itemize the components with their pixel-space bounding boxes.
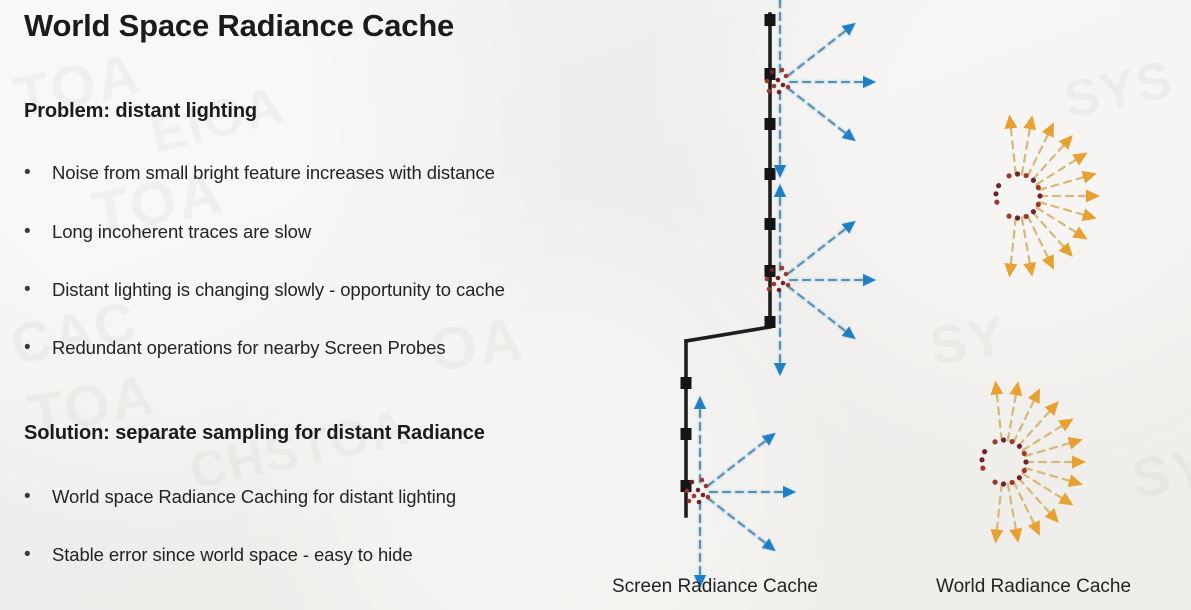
radiance-sample-dot	[1024, 214, 1029, 219]
radiance-sample-dot	[685, 489, 690, 494]
screen-probe-markers	[681, 14, 776, 492]
radiance-sample-dot	[781, 83, 786, 88]
ray-arrowhead	[1082, 209, 1097, 221]
bullet-glyph: •	[24, 221, 38, 243]
radiance-sample-dot	[1022, 451, 1027, 456]
list-item-label: Distant lighting is changing slowly - op…	[38, 279, 505, 301]
radiance-sample-dot	[1001, 437, 1006, 442]
ray-dashed-line	[1039, 202, 1083, 215]
ray-arrowhead	[1004, 263, 1017, 278]
radiance-sample-dot	[1001, 481, 1006, 486]
ray-arrowhead	[774, 184, 786, 197]
list-item-label: World space Radiance Caching for distant…	[38, 486, 456, 508]
radiance-sample-dot	[786, 283, 791, 288]
ray-arrowhead	[1009, 528, 1022, 543]
radiance-sample-dot	[701, 493, 706, 498]
ray-arrowhead	[1058, 419, 1073, 432]
radiance-sample-dot	[696, 488, 701, 493]
bullet-glyph: •	[24, 544, 38, 566]
radiance-sample-dot	[786, 85, 791, 90]
radiance-sample-dot	[776, 276, 781, 281]
radiance-sample-dot	[992, 439, 997, 444]
ray-arrowhead	[990, 380, 1003, 395]
radiance-sample-dot	[980, 466, 985, 471]
list-item: • World space Radiance Caching for dista…	[24, 486, 456, 508]
ray-glow	[708, 441, 766, 486]
radiance-sample-dot	[1036, 202, 1041, 207]
ray-dashed-line	[1033, 145, 1064, 179]
radiance-sample-dot	[777, 288, 782, 293]
ray-dashed-line	[1028, 135, 1048, 176]
radiance-sample-dot	[992, 480, 997, 485]
radiance-sample-dot	[994, 200, 999, 205]
radiance-sample-dot	[982, 449, 987, 454]
bullet-glyph: •	[24, 337, 38, 359]
ray-dashed-line	[997, 484, 1002, 530]
radiance-sample-dot	[697, 500, 702, 505]
radiance-sample-dot	[700, 478, 705, 483]
ray-arrowhead	[694, 396, 706, 409]
bullet-glyph: •	[24, 486, 38, 508]
ray-dashed-line	[1028, 216, 1048, 257]
radiance-sample-dot	[706, 495, 711, 500]
ray-glow	[708, 498, 766, 543]
ray-arrowhead	[1004, 114, 1017, 129]
section-heading-solution: Solution: separate sampling for distant …	[24, 422, 485, 445]
bullet-glyph: •	[24, 162, 38, 184]
ray-arrowhead	[990, 529, 1003, 544]
ray-dashed-line	[1033, 212, 1064, 246]
radiance-sample-dot	[765, 277, 770, 282]
radiance-sample-dot	[770, 268, 775, 273]
caption-world-radiance-cache: World Radiance Cache	[936, 576, 1131, 598]
radiance-sample-dot	[772, 282, 777, 287]
ray-dashed-line	[1014, 401, 1034, 442]
list-item-label: Noise from small bright feature increase…	[38, 162, 495, 184]
list-item-label: Stable error since world space - easy to…	[38, 544, 413, 566]
screen-probe-marker	[681, 377, 692, 389]
radiance-sample-dot	[1010, 439, 1015, 444]
bullet-glyph: •	[24, 279, 38, 301]
screen-probe-marker	[765, 68, 776, 80]
ray-dashed-line	[1019, 411, 1050, 445]
ray-dashed-line	[1039, 177, 1083, 190]
ray-arrowhead	[1072, 153, 1087, 166]
screen-probe-marker	[765, 218, 776, 230]
radiance-sample-dot	[1006, 214, 1011, 219]
ray-arrowhead	[774, 363, 786, 376]
radiance-sample-dot	[784, 74, 789, 79]
section-heading-problem: Problem: distant lighting	[24, 100, 257, 123]
ray-arrowhead	[863, 274, 876, 286]
list-item: • Redundant operations for nearby Screen…	[24, 337, 446, 359]
ray-dashed-line	[1011, 128, 1016, 174]
screen-probe-marker	[765, 14, 776, 26]
list-item: • Stable error since world space - easy …	[24, 544, 413, 566]
radiance-sample-dot	[1015, 171, 1020, 176]
radiance-sample-dot	[765, 79, 770, 84]
ray-dashed-line	[1022, 129, 1030, 174]
radiance-sample-dot	[767, 287, 772, 292]
ray-glow	[788, 286, 846, 331]
radiance-sample-dot	[690, 480, 695, 485]
radiance-sample-dot	[1024, 173, 1029, 178]
list-item-label: Long incoherent traces are slow	[38, 221, 311, 243]
ray-arrowhead	[1072, 227, 1087, 240]
slide-text-column: World Space Radiance Cache Problem: dist…	[0, 0, 700, 610]
ray-arrowhead	[1082, 171, 1097, 183]
ray-arrowhead	[1058, 493, 1073, 506]
radiance-sample-dot	[687, 499, 692, 504]
ray-dashed-line	[1011, 218, 1016, 264]
radiance-sample-dot	[780, 68, 785, 73]
radiance-sample-dot	[770, 70, 775, 75]
radiance-cache-diagram	[600, 0, 1191, 610]
screen-radiance-rays	[692, 0, 877, 590]
radiance-sample-dot	[993, 191, 998, 196]
ray-glow	[788, 88, 846, 133]
ray-dashed-line	[1025, 443, 1069, 456]
radiance-sample-dot	[1031, 209, 1036, 214]
world-radiance-rays	[990, 114, 1100, 543]
ray-arrowhead	[1068, 475, 1083, 487]
radiance-sample-dot	[996, 183, 1001, 188]
ray-arrowhead	[1068, 437, 1083, 449]
radiance-sample-dot	[776, 78, 781, 83]
radiance-sample-dot	[692, 494, 697, 499]
screen-probe-marker	[765, 118, 776, 130]
ray-arrowhead	[1072, 456, 1086, 469]
caption-screen-radiance-cache: Screen Radiance Cache	[612, 576, 818, 598]
radiance-sample-dot	[1037, 193, 1042, 198]
list-item: • Distant lighting is changing slowly - …	[24, 279, 505, 301]
radiance-sample-dot	[784, 272, 789, 277]
ray-arrowhead	[1086, 190, 1100, 203]
radiance-sample-dot	[1017, 444, 1022, 449]
list-item: • Long incoherent traces are slow	[24, 221, 311, 243]
ray-arrowhead	[1009, 381, 1022, 396]
ray-arrowhead	[863, 76, 876, 88]
radiance-sample-dot	[1022, 468, 1027, 473]
radiance-sample-dot	[1036, 185, 1041, 190]
ray-dashed-line	[997, 394, 1002, 440]
radiance-sample-dot	[780, 266, 785, 271]
radiance-sample-dot	[777, 90, 782, 95]
list-item: • Noise from small bright feature increa…	[24, 162, 495, 184]
page-title: World Space Radiance Cache	[24, 8, 454, 44]
ray-arrowhead	[1023, 115, 1036, 130]
ray-arrowhead	[774, 165, 786, 178]
wall-segment	[686, 327, 770, 341]
radiance-sample-dot	[979, 457, 984, 462]
screen-probe-marker	[765, 168, 776, 180]
screen-probe-marker	[681, 428, 692, 440]
ray-dashed-line	[1022, 218, 1030, 263]
ray-glow	[788, 229, 846, 274]
list-item-label: Redundant operations for nearby Screen P…	[38, 337, 446, 359]
radiance-sample-dot	[781, 281, 786, 286]
radiance-sample-dot	[1015, 215, 1020, 220]
ray-dashed-line	[1025, 468, 1069, 481]
ray-glow	[788, 31, 846, 76]
ray-dashed-line	[1008, 395, 1016, 440]
radiance-sample-dot	[1023, 459, 1028, 464]
ray-arrowhead	[783, 486, 796, 498]
radiance-sample-dot	[767, 89, 772, 94]
slide-canvas: TOAEIOATOACACTOACHSTOAOASYSYSSY World Sp…	[0, 0, 1191, 610]
diagram-svg	[600, 0, 1191, 610]
radiance-sample-dot	[704, 484, 709, 489]
ray-arrowhead	[1023, 262, 1036, 277]
screen-probe-marker	[765, 316, 776, 328]
radiance-sample-dot	[772, 84, 777, 89]
radiance-sample-dot	[1010, 480, 1015, 485]
ray-dashed-line	[1008, 484, 1016, 529]
ray-dashed-line	[1019, 478, 1050, 512]
radiance-sample-dot	[1006, 173, 1011, 178]
ray-dashed-line	[1014, 482, 1034, 523]
radiance-sample-dot	[1017, 475, 1022, 480]
radiance-sample-dot	[1031, 178, 1036, 183]
